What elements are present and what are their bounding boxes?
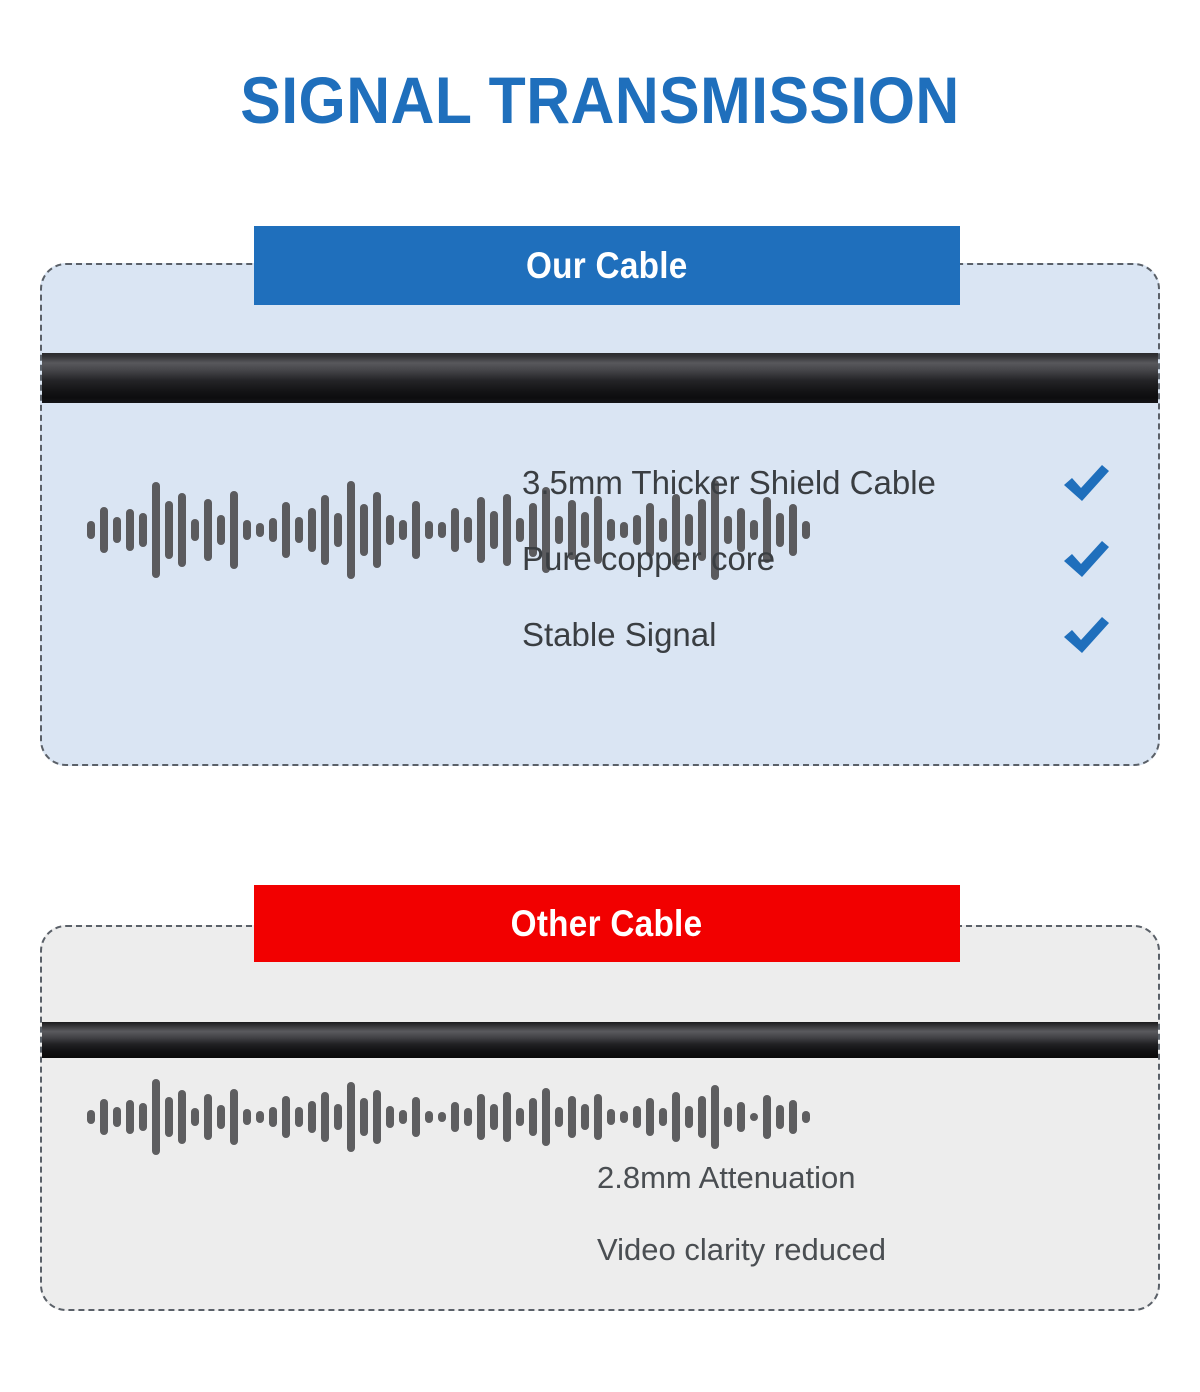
waveform-bar [672,1092,680,1142]
waveform-bar [698,1096,706,1138]
waveform-bar [282,1096,290,1138]
waveform-bar [776,1105,784,1129]
waveform-bar [477,497,485,563]
waveform-bar [191,519,199,541]
waveform-bar [243,520,251,540]
waveform-bar [282,502,290,558]
waveform-bar [347,1082,355,1152]
waveform-bar [139,513,147,547]
feature-label: Stable Signal [522,616,716,654]
waveform-bar [308,508,316,552]
list-item: Pure copper core [522,521,1112,597]
waveform-bar [724,1107,732,1127]
waveform-bar [646,1098,654,1136]
waveform-bar [204,1094,212,1140]
waveform-bar [451,1102,459,1132]
waveform-bar [165,1097,173,1137]
waveform-bar [308,1101,316,1133]
banner-label: Our Cable [526,245,688,287]
waveform-bar [139,1103,147,1131]
waveform-bar [490,511,498,549]
waveform-bar [412,501,420,559]
waveform-bar [789,1100,797,1134]
waveform-bar [178,1090,186,1144]
waveform-bar [516,1108,524,1126]
waveform-bar [659,1108,667,1126]
waveform-bar [685,1106,693,1128]
waveform-bar [542,1088,550,1146]
waveform-bar [737,1102,745,1132]
waveform-bar [152,1079,160,1155]
waveform-bar [503,494,511,566]
coaxial-cable-icon [40,353,1160,403]
waveform-bar [87,1110,95,1124]
list-item: Stable Signal [522,597,1112,673]
drawback-label: Video clarity reduced [597,1232,886,1268]
waveform-bar [321,1092,329,1142]
waveform-bar [620,1111,628,1123]
waveform-bar [295,517,303,543]
waveform-bar [412,1097,420,1137]
waveform-bar [256,523,264,537]
waveform-bar [113,1107,121,1127]
waveform-bar [490,1104,498,1130]
check-icon [1060,461,1112,505]
waveform-bar [334,1104,342,1130]
waveform-bar [503,1092,511,1142]
waveform-bar [477,1094,485,1140]
thin-coaxial-cable-icon [40,1022,1160,1058]
waveform-bar [438,1112,446,1122]
waveform-bar [126,1100,134,1134]
waveform-bar [256,1111,264,1123]
waveform-bar [100,507,108,553]
other-cable-section: 2.8mm Attenuation Video clarity reduced … [40,885,1160,1311]
other-cable-drawback-list: 2.8mm Attenuation Video clarity reduced [597,1142,1117,1286]
waveform-bar [243,1109,251,1125]
waveform-bar [217,1105,225,1129]
waveform-bar [763,1095,771,1139]
waveform-bar [126,509,134,551]
waveform-bar [464,517,472,543]
other-cable-banner: Other Cable [254,885,960,962]
waveform-bar [347,481,355,579]
waveform-bar [750,1113,758,1121]
waveform-bar [399,520,407,540]
waveform-bar [594,1094,602,1140]
waveform-bar [204,499,212,561]
check-icon [1060,613,1112,657]
waveform-bar [334,513,342,547]
drawback-label: 2.8mm Attenuation [597,1160,856,1196]
waveform-bar [191,1108,199,1126]
waveform-bar [360,1098,368,1136]
page-title: SIGNAL TRANSMISSION [48,62,1152,138]
waveform-bar [230,1089,238,1145]
our-cable-panel: 3.5mm Thicker Shield Cable Pure copper c… [40,263,1160,766]
waveform-bar [269,518,277,542]
waveform-bar [373,492,381,568]
waveform-bar [464,1108,472,1126]
waveform-bar [555,1107,563,1127]
other-cable-panel: 2.8mm Attenuation Video clarity reduced [40,925,1160,1311]
waveform-bar [87,521,95,539]
waveform-bar [321,495,329,565]
waveform-bar [438,522,446,538]
our-cable-banner: Our Cable [254,226,960,305]
waveform-bar [217,515,225,545]
waveform-bar [113,517,121,543]
waveform-bar [295,1107,303,1127]
our-cable-feature-list: 3.5mm Thicker Shield Cable Pure copper c… [522,445,1112,673]
feature-label: Pure copper core [522,540,775,578]
waveform-bar [581,1104,589,1130]
list-item: Video clarity reduced [597,1214,1117,1286]
waveform-bar [373,1090,381,1144]
waveform-bar [386,515,394,545]
list-item: 3.5mm Thicker Shield Cable [522,445,1112,521]
waveform-bar [178,493,186,567]
check-icon [1060,537,1112,581]
waveform-bar [269,1107,277,1127]
waveform-bar [230,491,238,569]
waveform-bar [386,1106,394,1128]
waveform-bar [152,482,160,578]
waveform-bar [165,501,173,559]
list-item: 2.8mm Attenuation [597,1142,1117,1214]
waveform-bar [425,1111,433,1123]
banner-label: Other Cable [511,903,703,945]
waveform-bar [529,1098,537,1136]
waveform-bar [100,1099,108,1135]
waveform-bar [568,1096,576,1138]
feature-label: 3.5mm Thicker Shield Cable [522,464,936,502]
waveform-bar [802,1111,810,1123]
waveform-bar [711,1085,719,1149]
waveform-bar [607,1109,615,1125]
waveform-bar [425,521,433,539]
waveform-bar [360,504,368,556]
waveform-bar [451,508,459,552]
waveform-bar [633,1106,641,1128]
our-cable-section: 3.5mm Thicker Shield Cable Pure copper c… [40,226,1160,766]
waveform-bar [399,1110,407,1124]
